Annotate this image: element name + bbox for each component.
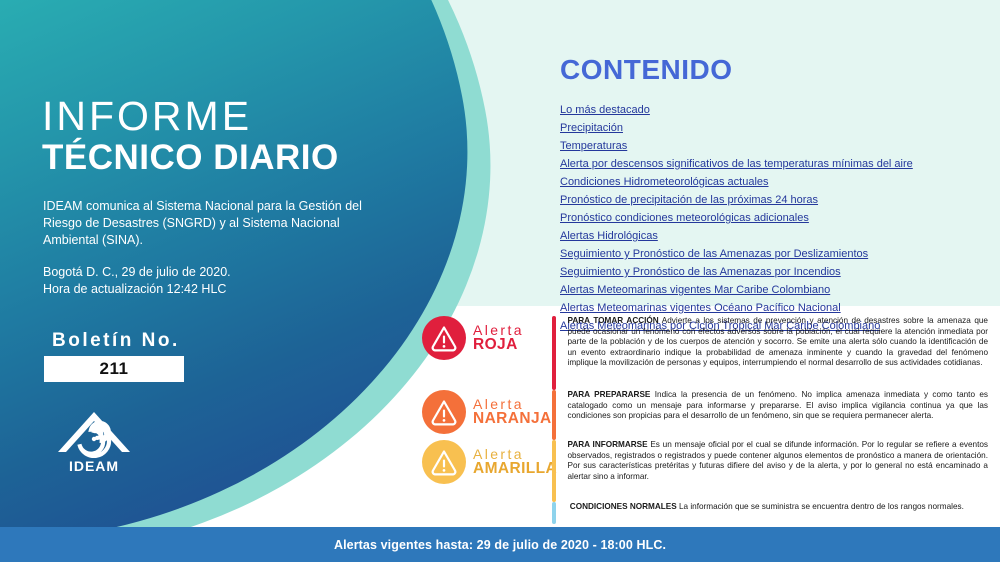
alert-badge-red: Alerta ROJA [422, 316, 552, 360]
toc-link[interactable]: Seguimiento y Pronóstico de las Amenazas… [560, 265, 841, 279]
list-item[interactable]: Lo más destacado [560, 100, 990, 118]
toc-link[interactable]: Condiciones Hidrometeorológicas actuales [560, 175, 769, 189]
toc-link[interactable]: Alertas Meteomarinas vigentes Mar Caribe… [560, 283, 830, 297]
alert-badge-orange: Alerta NARANJA [422, 390, 552, 434]
bulletin-number: 211 [100, 359, 129, 379]
alert-level-yellow: AMARILLA [473, 461, 557, 477]
alert-row-orange: Alerta NARANJA PARA PREPARARSE Indica la… [422, 390, 988, 440]
alert-body-normal: La información que se suministra se encu… [677, 502, 964, 511]
toc-link[interactable]: Seguimiento y Pronóstico de las Amenazas… [560, 247, 868, 261]
alert-divider-bar-yellow [552, 440, 556, 502]
alert-heading-orange: PARA PREPARARSE [568, 390, 651, 399]
list-item[interactable]: Alerta por descensos significativos de l… [560, 154, 990, 172]
ideam-logo: IDEAM [44, 406, 144, 476]
hero-date: Bogotá D. C., 29 de julio de 2020. [43, 264, 373, 281]
toc-link[interactable]: Lo más destacado [560, 103, 650, 117]
warning-triangle-icon [422, 440, 466, 484]
list-item[interactable]: Alertas Hidrológicas [560, 226, 990, 244]
alert-word-yellow: Alerta [473, 447, 557, 461]
list-item[interactable]: Condiciones Hidrometeorológicas actuales [560, 172, 990, 190]
page-title-line1: INFORME [42, 96, 252, 137]
list-item[interactable]: Precipitación [560, 118, 990, 136]
informe-tecnico-diario-page: INFORME TÉCNICO DIARIO IDEAM comunica al… [0, 0, 1000, 562]
alert-text-normal: CONDICIONES NORMALES La información que … [568, 502, 989, 513]
alert-text-yellow: PARA INFORMARSE Es un mensaje oficial po… [568, 440, 989, 482]
alert-divider-bar-orange [552, 390, 556, 440]
page-title-line2: TÉCNICO DIARIO [42, 140, 339, 175]
toc-link[interactable]: Pronóstico de precipitación de las próxi… [560, 193, 818, 207]
ideam-wordmark: IDEAM [44, 458, 144, 474]
alert-divider-bar-normal [552, 502, 556, 524]
alert-legend: Alerta ROJA PARA TOMAR ACCIÓN Advierte a… [422, 316, 988, 524]
alert-badge-yellow: Alerta AMARILLA [422, 440, 552, 484]
list-item[interactable]: Pronóstico condiciones meteorológicas ad… [560, 208, 990, 226]
alert-text-red: PARA TOMAR ACCIÓN Advierte a los sistema… [568, 316, 989, 369]
warning-triangle-icon [422, 390, 466, 434]
contents-title: CONTENIDO [560, 56, 990, 84]
ideam-roof-spiral-icon [44, 406, 144, 458]
alert-heading-red: PARA TOMAR ACCIÓN [568, 316, 659, 325]
alert-heading-normal: CONDICIONES NORMALES [570, 502, 677, 511]
list-item[interactable]: Temperaturas [560, 136, 990, 154]
alert-row-normal: CONDICIONES NORMALES La información que … [422, 502, 988, 524]
alert-word-orange: Alerta [473, 397, 552, 411]
alert-level-orange: NARANJA [473, 411, 552, 427]
list-item[interactable]: Alertas Meteomarinas vigentes Mar Caribe… [560, 280, 990, 298]
alert-heading-yellow: PARA INFORMARSE [568, 440, 648, 449]
warning-triangle-icon [422, 316, 466, 360]
hero-description: IDEAM comunica al Sistema Nacional para … [43, 198, 373, 249]
toc-link[interactable]: Temperaturas [560, 139, 627, 153]
toc-link[interactable]: Alertas Meteomarinas vigentes Océano Pac… [560, 301, 841, 315]
alert-row-red: Alerta ROJA PARA TOMAR ACCIÓN Advierte a… [422, 316, 988, 390]
toc-link[interactable]: Alertas Hidrológicas [560, 229, 658, 243]
footer-text: Alertas vigentes hasta: 29 de julio de 2… [334, 538, 666, 552]
alert-word-red: Alerta [473, 323, 524, 337]
toc-link[interactable]: Pronóstico condiciones meteorológicas ad… [560, 211, 809, 225]
hero-update-time: Hora de actualización 12:42 HLC [43, 281, 373, 298]
toc-link[interactable]: Alerta por descensos significativos de l… [560, 157, 913, 171]
toc-link[interactable]: Precipitación [560, 121, 623, 135]
contents-panel: CONTENIDO Lo más destacado Precipitación… [560, 56, 990, 334]
bulletin-number-box: 211 [44, 356, 184, 382]
alert-row-yellow: Alerta AMARILLA PARA INFORMARSE Es un me… [422, 440, 988, 502]
list-item[interactable]: Alertas Meteomarinas vigentes Océano Pac… [560, 298, 990, 316]
contents-list: Lo más destacado Precipitación Temperatu… [560, 100, 990, 334]
alert-divider-bar-red [552, 316, 556, 390]
list-item[interactable]: Pronóstico de precipitación de las próxi… [560, 190, 990, 208]
list-item[interactable]: Seguimiento y Pronóstico de las Amenazas… [560, 244, 990, 262]
alert-text-orange: PARA PREPARARSE Indica la presencia de u… [568, 390, 989, 422]
alert-level-red: ROJA [473, 337, 524, 353]
footer-bar: Alertas vigentes hasta: 29 de julio de 2… [0, 527, 1000, 562]
bulletin-label: Boletín No. [52, 330, 180, 352]
list-item[interactable]: Seguimiento y Pronóstico de las Amenazas… [560, 262, 990, 280]
